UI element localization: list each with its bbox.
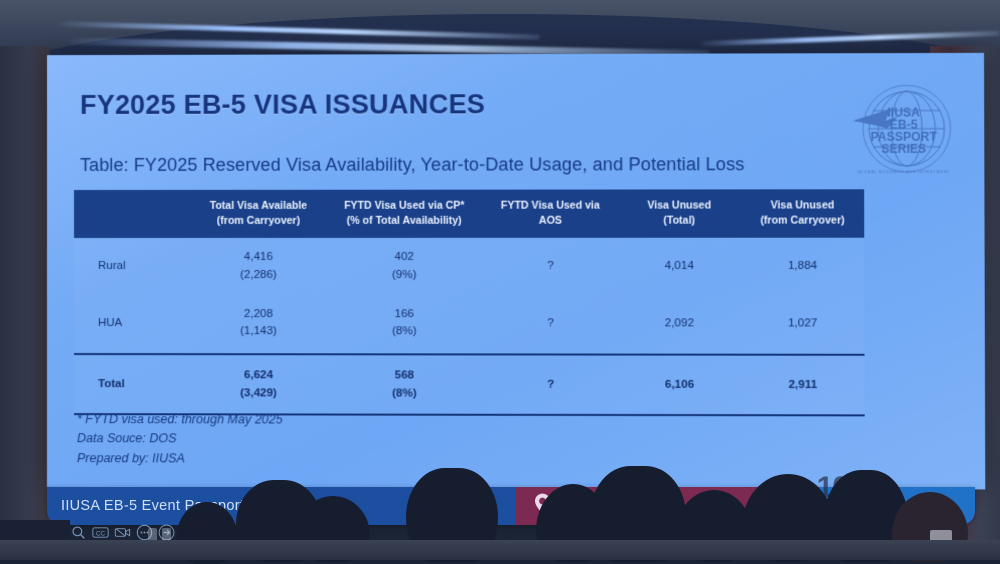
cell-total-visa-available: 6,624 (3,429) <box>192 355 326 415</box>
cell-fytd-aos: ? <box>483 355 618 415</box>
column-header-total-visa-available: Total Visa Available (from Carryover) <box>192 190 326 239</box>
closed-caption-icon[interactable]: CC <box>92 524 109 541</box>
banner-event-label: IIUSA EB-5 Event Passport Series <box>61 498 291 514</box>
footnote-data-source: Data Souce: DOS <box>77 430 283 450</box>
page-title: FY2025 EB-5 VISA ISSUANCES <box>80 89 485 121</box>
cell-visa-unused-total: 4,014 <box>618 238 741 295</box>
cell-visa-unused-total: 6,106 <box>618 355 741 415</box>
row-label: Rural <box>74 238 192 295</box>
slide-footnotes: * FYTD visa used: through May 2025 Data … <box>77 410 283 469</box>
banner-location-section: Shanghai <box>516 487 854 525</box>
table-row: HUA 2,208 (1,143) 166 (8%) ? 2,092 1,027 <box>74 295 865 355</box>
column-header-visa-unused-carryover: Visa Unused (from Carryover) <box>741 189 865 238</box>
row-label: Total <box>74 354 192 414</box>
cell-fytd-cp: 402 (9%) <box>325 238 483 295</box>
table-row-total: Total 6,624 (3,429) 568 (8%) ? 6,106 2,9… <box>74 354 865 415</box>
banner-location-label: Shanghai <box>559 498 623 514</box>
comment-icon[interactable] <box>136 524 153 541</box>
table-header-row: Total Visa Available (from Carryover) FY… <box>74 189 864 238</box>
column-header-visa-unused-total: Visa Unused (Total) <box>618 189 741 238</box>
cell-fytd-aos: ? <box>483 238 618 295</box>
svg-text:GLOBAL BUSINESS AND INVESTMENT: GLOBAL BUSINESS AND INVESTMENT <box>857 169 950 174</box>
map-pin-icon <box>534 493 551 519</box>
zoom-icon[interactable] <box>70 524 87 541</box>
column-header-fytd-aos: FYTD Visa Used via AOS <box>483 190 618 239</box>
iiusa-passport-series-logo: IIUSA EB-5 PASSPORT SERIES GLOBAL BUSINE… <box>851 80 958 181</box>
cell-fytd-aos: ? <box>483 295 618 355</box>
svg-text:SERIES: SERIES <box>881 142 926 156</box>
cell-fytd-cp: 166 (8%) <box>325 295 483 355</box>
footnote-fytd: * FYTD visa used: through May 2025 <box>77 410 283 430</box>
cell-visa-unused-total: 2,092 <box>618 295 741 355</box>
cell-visa-unused-carryover: 1,027 <box>741 295 865 355</box>
visa-issuance-table: Total Visa Available (from Carryover) FY… <box>74 189 865 416</box>
cell-visa-unused-carryover: 2,911 <box>741 355 865 415</box>
cell-total-visa-available: 2,208 (1,143) <box>192 295 326 355</box>
next-icon[interactable] <box>158 524 175 541</box>
slide-page-number: 10 <box>817 471 848 505</box>
presentation-toolbar[interactable]: CC <box>26 524 175 541</box>
cell-fytd-cp: 568 (8%) <box>325 355 483 415</box>
pen-icon[interactable] <box>48 524 65 541</box>
cell-total-visa-available: 4,416 (2,286) <box>192 238 326 295</box>
banner-event-section: IIUSA EB-5 Event Passport Series <box>47 487 516 525</box>
presentation-slide: FY2025 EB-5 VISA ISSUANCES Table: FY2025… <box>47 53 985 490</box>
svg-text:CC: CC <box>96 530 106 537</box>
video-off-icon[interactable] <box>114 524 131 541</box>
footnote-prepared-by: Prepared by: IIUSA <box>77 449 283 469</box>
row-label: HUA <box>74 295 192 355</box>
table-row: Rural 4,416 (2,286) 402 (9%) ? 4,014 1,8… <box>74 238 864 295</box>
undo-icon[interactable] <box>26 524 43 541</box>
slide-subtitle: Table: FY2025 Reserved Visa Availability… <box>80 154 745 176</box>
wall-left <box>0 46 50 560</box>
column-header-category <box>74 190 192 239</box>
column-header-fytd-cp: FYTD Visa Used via CP* (% of Total Avail… <box>325 190 483 239</box>
cell-visa-unused-carryover: 1,884 <box>741 238 865 295</box>
brand-tagline: INVEST IN THE USA <box>879 511 920 515</box>
